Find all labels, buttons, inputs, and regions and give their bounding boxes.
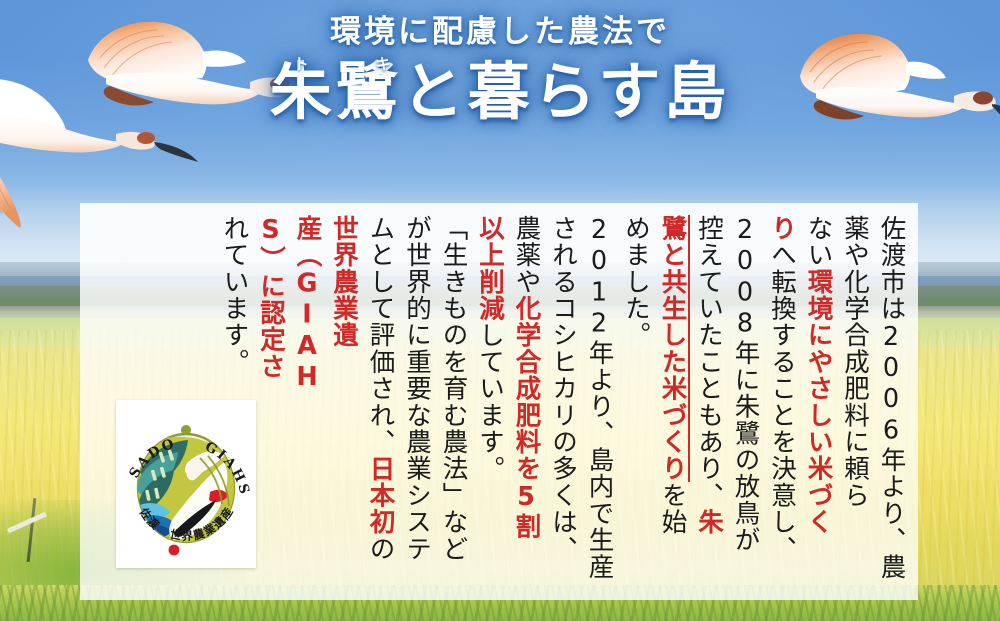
body-column-c12: 以上削減しています。 bbox=[477, 215, 503, 589]
body-segment: 農薬や bbox=[511, 215, 541, 295]
poster-root: 環境に配慮した農法で ト キ 朱鷺と暮らす島 佐渡市は2006年より、農薬や化学… bbox=[0, 0, 1000, 621]
body-column-c18: S）に認定さ bbox=[258, 215, 284, 589]
body-column-c15: ムとして評価され、日本初の bbox=[367, 215, 393, 589]
body-segment: ない bbox=[803, 215, 833, 268]
ibis-left-upper-icon bbox=[74, 14, 304, 144]
body-column-c9: 2012年より、島内で生産 bbox=[586, 215, 612, 589]
info-panel: 佐渡市は2006年より、農薬や化学合成肥料に頼らない環境にやさしい米づくりへ転換… bbox=[80, 203, 918, 600]
body-segment: 2012年より、島内で生産 bbox=[584, 215, 614, 580]
body-column-c1: 佐渡市は2006年より、農 bbox=[878, 215, 904, 589]
body-segment: 控えていたこともあり、 bbox=[694, 215, 724, 509]
body-segment: 鷺と共生した米づくり bbox=[657, 215, 690, 482]
sado-giahs-emblem-svg: SADO GIAHS 佐渡 世界農業遺産 bbox=[116, 400, 256, 568]
body-column-c13: 「生きものを育む農法」など bbox=[440, 215, 466, 589]
body-segment: されるコシヒカリの多くは、 bbox=[548, 215, 578, 562]
body-segment: り bbox=[767, 215, 797, 242]
body-segment: しています。 bbox=[475, 322, 505, 482]
body-column-c8: めました。 bbox=[623, 215, 649, 589]
body-segment: 環境にやさしい米づく bbox=[803, 268, 833, 535]
body-segment: が世界的に重要な農業システ bbox=[402, 215, 432, 562]
body-segment: ムとして評価され、 bbox=[365, 215, 395, 455]
body-segment: れています。 bbox=[219, 215, 249, 375]
ibis-right-icon bbox=[780, 20, 1000, 150]
body-column-c14: が世界的に重要な農業システ bbox=[404, 215, 430, 589]
body-column-c2: 薬や化学合成肥料に頼ら bbox=[842, 215, 868, 589]
logo-bottom-dot bbox=[169, 545, 180, 556]
body-column-c10: されるコシヒカリの多くは、 bbox=[550, 215, 576, 589]
logo-top-dot bbox=[181, 425, 191, 435]
body-column-c6: 控えていたこともあり、朱 bbox=[696, 215, 722, 589]
body-segment: 日本初 bbox=[365, 455, 395, 535]
body-segment: 産（GIAH bbox=[292, 215, 322, 393]
body-segment: を始 bbox=[657, 482, 687, 535]
vertical-text-area: 佐渡市は2006年より、農薬や化学合成肥料に頼らない環境にやさしい米づくりへ転換… bbox=[211, 215, 905, 589]
body-segment: S）に認定さ bbox=[256, 215, 286, 380]
body-column-c3: ない環境にやさしい米づく bbox=[805, 215, 831, 589]
body-column-c16: 世界農業遺 bbox=[331, 215, 357, 589]
body-segment: 化学合成肥料を5割 bbox=[511, 295, 541, 540]
body-segment: 「生きものを育む農法」など bbox=[438, 215, 468, 562]
body-segment: 2008年に朱鷺の放鳥が bbox=[730, 215, 760, 553]
body-segment: めました。 bbox=[621, 215, 651, 349]
body-column-c5: 2008年に朱鷺の放鳥が bbox=[732, 215, 758, 589]
sado-giahs-logo: SADO GIAHS 佐渡 世界農業遺産 bbox=[116, 400, 256, 568]
body-segment: 佐渡市は2006年より、農 bbox=[876, 215, 906, 580]
body-segment: 世界農業遺 bbox=[329, 215, 359, 349]
body-column-c7: 鷺と共生した米づくりを始 bbox=[659, 215, 685, 589]
body-column-c4: りへ転換することを決意し、 bbox=[769, 215, 795, 589]
body-segment: 薬や化学合成肥料に頼ら bbox=[840, 215, 870, 509]
body-column-c11: 農薬や化学合成肥料を5割 bbox=[513, 215, 539, 589]
body-segment: 以上削減 bbox=[475, 215, 505, 322]
body-column-c17: 産（GIAH bbox=[294, 215, 320, 589]
body-segment: の bbox=[365, 535, 395, 562]
body-segment: へ転換することを決意し、 bbox=[767, 242, 797, 562]
body-segment: 朱 bbox=[694, 509, 724, 536]
